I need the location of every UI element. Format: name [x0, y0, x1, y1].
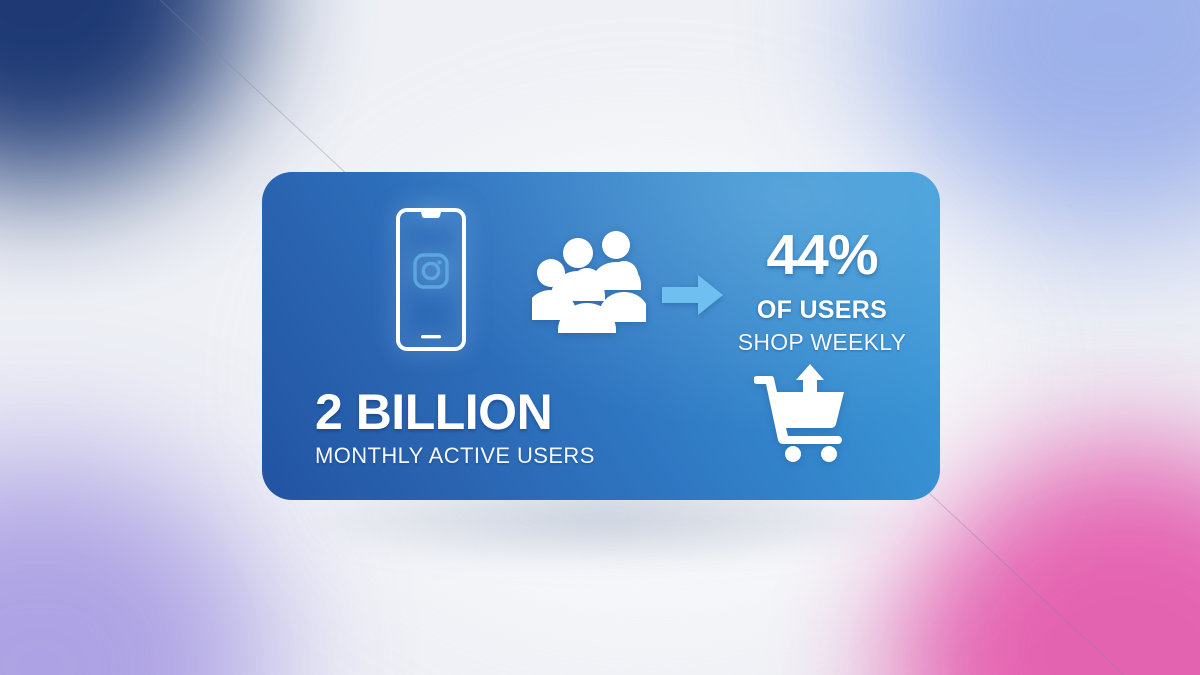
primary-stat-label: MONTHLY ACTIVE USERS	[315, 445, 645, 467]
secondary-stat-sublabel: SHOP WEEKLY	[722, 331, 922, 354]
people-group-icon	[532, 228, 646, 333]
primary-stat-block: 2 BILLION MONTHLY ACTIVE USERS	[315, 387, 645, 467]
infographic-canvas: 2 BILLION MONTHLY ACTIVE USERS 44% OF US…	[0, 0, 1200, 675]
background-blob-navy	[0, 0, 250, 185]
primary-stat-value: 2 BILLION	[315, 387, 645, 437]
secondary-stat-label: OF USERS	[722, 298, 922, 323]
background-blob-lavender	[0, 455, 270, 675]
secondary-stat-value: 44%	[722, 227, 922, 284]
arrow-right-icon	[662, 274, 724, 316]
secondary-stat-block: 44% OF USERS SHOP WEEKLY	[722, 227, 922, 354]
shopping-cart-upload-icon	[754, 362, 850, 462]
smartphone-instagram-icon	[395, 207, 467, 352]
diagonal-hairline-bottom	[905, 470, 1200, 675]
stats-card: 2 BILLION MONTHLY ACTIVE USERS 44% OF US…	[262, 172, 940, 500]
